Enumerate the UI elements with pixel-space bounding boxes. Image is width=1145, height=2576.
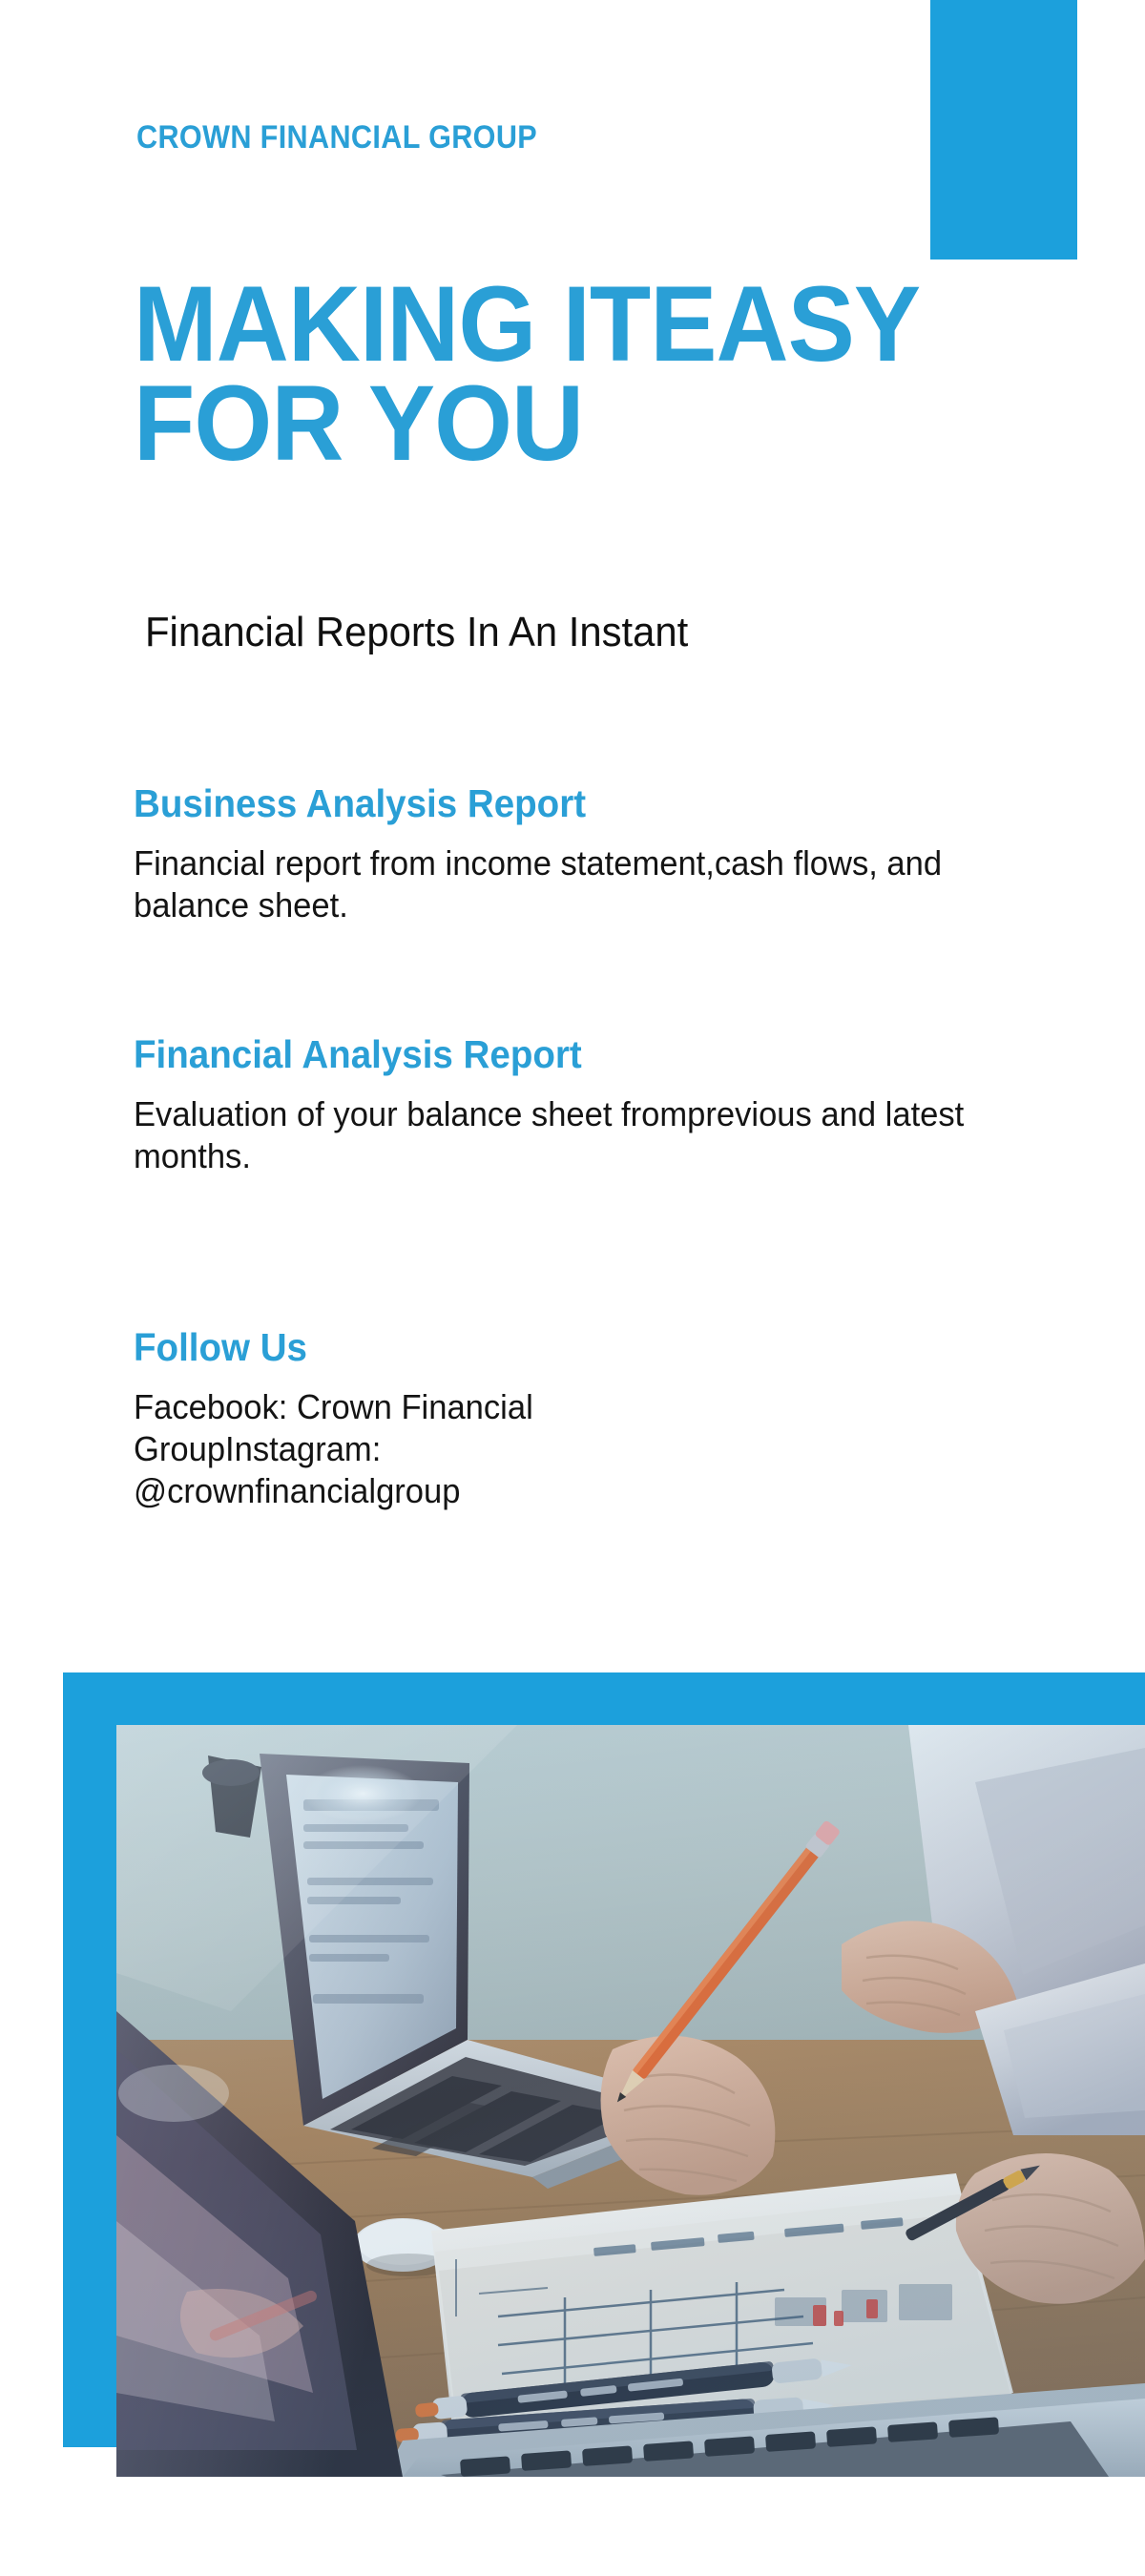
photo-frame — [116, 1725, 1145, 2477]
section-title-financial-analysis: Financial Analysis Report — [134, 1033, 994, 1076]
brand-name: CROWN FINANCIAL GROUP — [136, 119, 537, 156]
section-title-business-analysis: Business Analysis Report — [134, 782, 994, 825]
section-body-follow-us: Facebook: Crown Financial GroupInstagram… — [134, 1386, 701, 1512]
tagline: Financial Reports In An Instant — [145, 608, 688, 658]
section-financial-analysis: Financial Analysis Report Evaluation of … — [134, 1033, 1050, 1177]
section-body-business-analysis: Financial report from income statement,c… — [134, 842, 986, 926]
section-business-analysis: Business Analysis Report Financial repor… — [134, 782, 1050, 926]
section-title-follow-us: Follow Us — [134, 1326, 994, 1369]
section-body-financial-analysis: Evaluation of your balance sheet frompre… — [134, 1093, 986, 1177]
top-accent-block — [930, 0, 1077, 260]
office-desk-photo — [116, 1725, 1145, 2477]
headline-line-2: FOR YOU — [134, 374, 1039, 473]
page-headline: MAKING ITEASY FOR YOU — [134, 275, 1039, 473]
section-follow-us: Follow Us Facebook: Crown Financial Grou… — [134, 1326, 1050, 1512]
